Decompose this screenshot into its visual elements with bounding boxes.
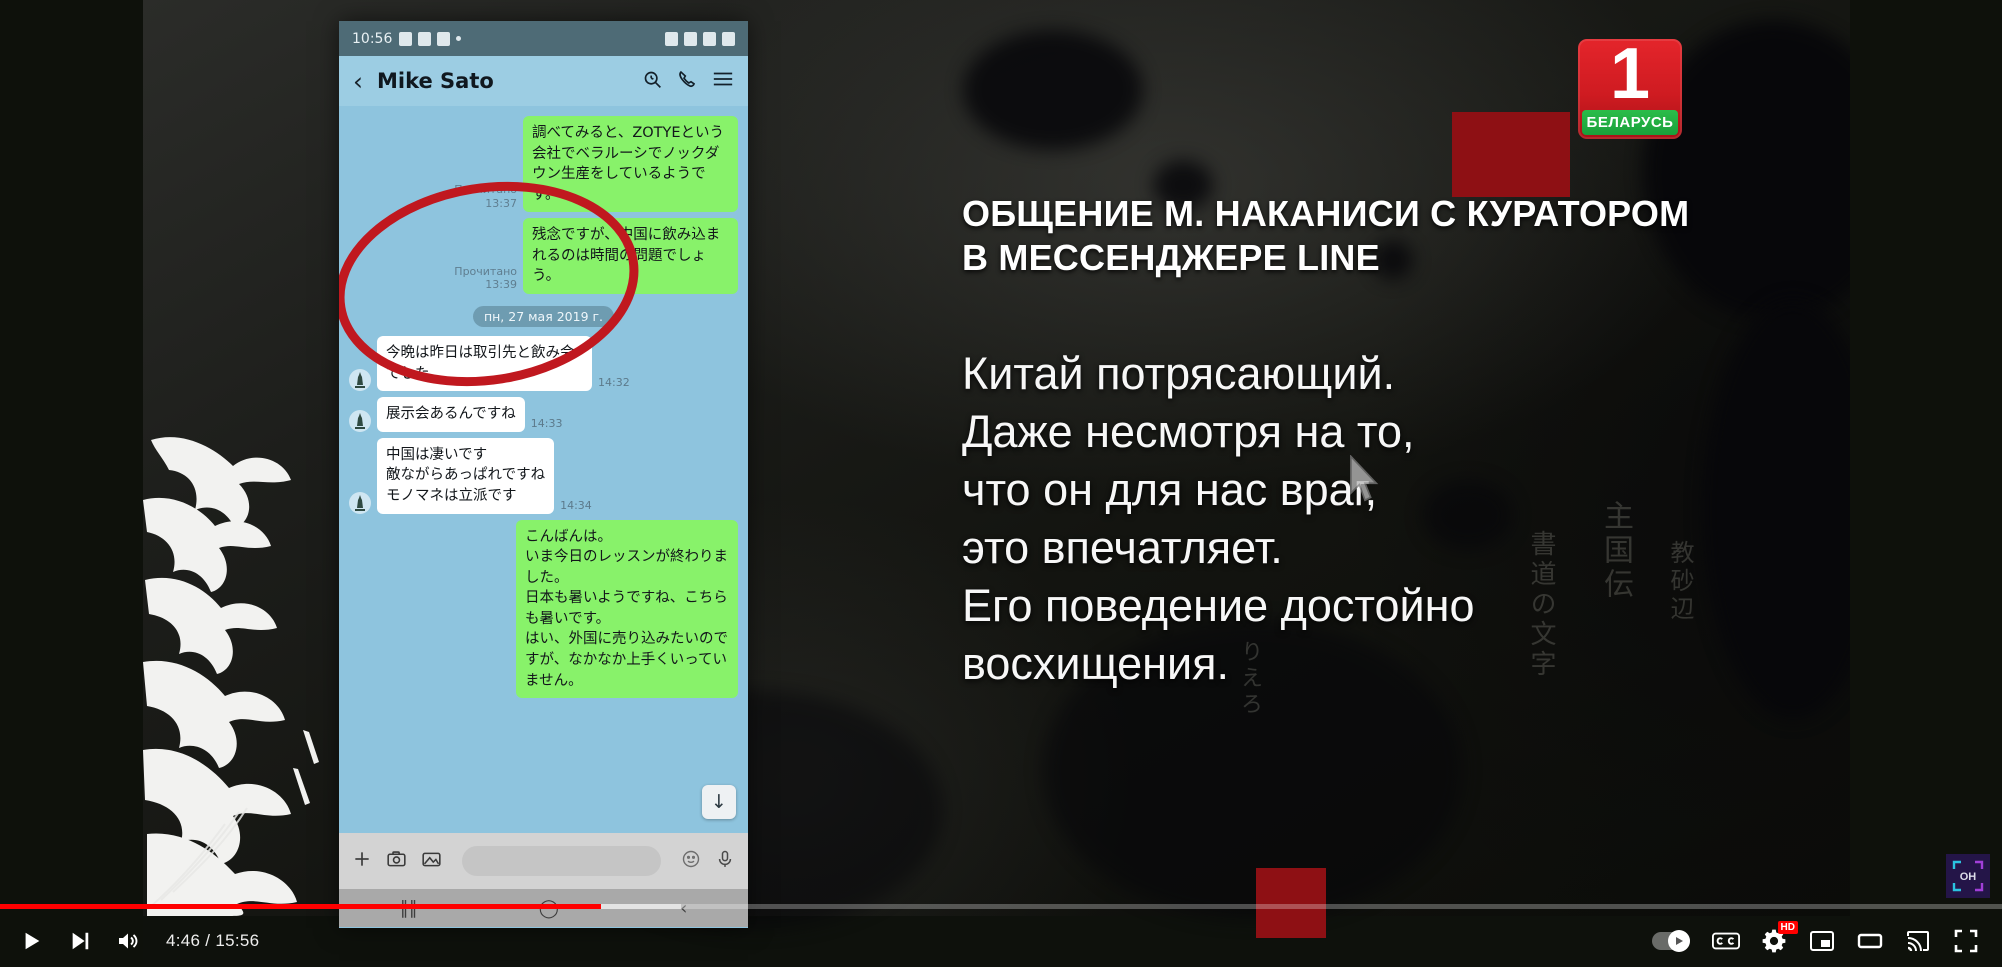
app-notification-icon (418, 32, 431, 46)
volume-button[interactable] (104, 917, 152, 965)
dot-icon (456, 36, 461, 41)
date-divider: пн, 27 мая 2019 г. (339, 306, 748, 327)
phone-screenshot: 10:56 ‹ Mike Sato (339, 21, 748, 928)
quality-hd-badge: HD (1778, 921, 1798, 934)
fullscreen-button[interactable] (1942, 917, 1990, 965)
settings-button[interactable]: HD (1750, 917, 1798, 965)
wifi-icon (684, 32, 697, 46)
controls-row: 4:46 / 15:56 HD (0, 914, 2002, 967)
quote-line: Китай потрясающий. (962, 345, 1722, 403)
next-button[interactable] (56, 917, 104, 965)
autoplay-knob (1668, 930, 1690, 952)
letterbox-right (1850, 0, 2002, 967)
channel-watermark-icon: ОН (1946, 854, 1990, 898)
chat-message-row: 今晩は昨日は取引先と飲み会でした 14:32 (339, 333, 748, 394)
cast-button[interactable] (1894, 917, 1942, 965)
message-status-time: Прочитано 13:37 (454, 183, 517, 211)
headline-line-1: ОБЩЕНИЕ М. НАКАНИСИ С КУРАТОРОМ (962, 192, 1772, 236)
battery-saver-icon (399, 32, 412, 46)
quote-line: Даже несмотря на то, (962, 403, 1722, 461)
message-time: 14:32 (598, 376, 630, 389)
progress-bar-track[interactable] (0, 904, 2002, 909)
phone-icon[interactable] (677, 69, 698, 94)
video-player-stage[interactable]: 書道の文字 主国伝 教砂辺 りえろ 1 (0, 0, 2002, 967)
chat-message-row: Прочитано 13:39 残念ですが、中国に飲み込まれるのは時間の問題でし… (339, 215, 748, 297)
message-time: 14:33 (531, 417, 563, 430)
quote-line: Его поведение достойно (962, 577, 1722, 635)
camera-icon[interactable] (386, 849, 407, 874)
avatar (349, 369, 371, 391)
avatar (349, 410, 371, 432)
autoplay-toggle[interactable] (1640, 917, 1702, 965)
battery-icon (722, 32, 735, 46)
alarm-icon (665, 32, 678, 46)
message-time: 13:39 (454, 278, 517, 292)
plus-icon[interactable] (352, 849, 372, 873)
svg-text:ОН: ОН (1960, 871, 1977, 883)
headline-line-2: В МЕССЕНДЖЕРЕ LINE (962, 236, 1772, 280)
time-display: 4:46 / 15:56 (166, 931, 259, 951)
message-status-time: Прочитано 13:39 (454, 265, 517, 293)
scroll-to-bottom-button[interactable]: ↓ (702, 785, 736, 819)
back-chevron-icon[interactable]: ‹ (353, 69, 363, 94)
message-bubble: 展示会あるんですね (377, 397, 525, 432)
hamburger-menu-icon[interactable] (712, 70, 734, 92)
folder-icon (437, 32, 450, 46)
chat-message-list[interactable]: Прочитано 13:37 調べてみると、ZOTYEという会社でベラルーシで… (339, 106, 748, 833)
avatar (349, 492, 371, 514)
read-status: Прочитано (454, 265, 517, 279)
message-bubble: 今晩は昨日は取引先と飲み会でした (377, 336, 592, 391)
video-player-controls[interactable]: 4:46 / 15:56 HD (0, 890, 2002, 967)
channel-name: БЕЛАРУСЬ (1582, 110, 1678, 135)
subtitles-cc-button[interactable] (1702, 917, 1750, 965)
chat-message-row: Прочитано 13:37 調べてみると、ZOTYEという会社でベラルーシで… (339, 113, 748, 215)
theater-mode-button[interactable] (1846, 917, 1894, 965)
search-icon[interactable] (642, 69, 663, 94)
signal-icon (703, 32, 716, 46)
chat-header: ‹ Mike Sato (339, 56, 748, 106)
progress-bar-played (0, 904, 601, 909)
quote-line: что он для нас враг, (962, 461, 1722, 519)
message-bubble: 調べてみると、ZOTYEという会社でベラルーシでノックダウン生産をしているようで… (523, 116, 738, 212)
channel-number: 1 (1578, 39, 1682, 113)
message-bubble: 中国は凄いです 敵ながらあっぱれですね モノマネは立派です (377, 438, 554, 514)
date-divider-label: пн, 27 мая 2019 г. (473, 306, 614, 327)
message-bubble: こんばんは。 いま今日のレッスンが終わりました。 日本も暑いようですね、こちらも… (516, 520, 738, 699)
letterbox-left (0, 0, 143, 967)
chat-contact-name: Mike Sato (377, 69, 628, 93)
broadcast-quote: Китай потрясающий. Даже несмотря на то, … (962, 345, 1722, 693)
miniplayer-button[interactable] (1798, 917, 1846, 965)
chat-message-row: こんばんは。 いま今日のレッスンが終わりました。 日本も暑いようですね、こちらも… (339, 517, 748, 702)
microphone-icon[interactable] (715, 849, 735, 873)
status-bar-time: 10:56 (352, 31, 392, 47)
chat-message-row-highlighted: 中国は凄いです 敵ながらあっぱれですね モノマネは立派です 14:34 (339, 435, 748, 517)
message-time: 14:34 (560, 499, 592, 512)
read-status: Прочитано (454, 183, 517, 197)
message-time: 13:37 (454, 197, 517, 211)
quote-line: это впечатляет. (962, 519, 1722, 577)
chat-input-bar[interactable] (339, 833, 748, 889)
broadcast-headline: ОБЩЕНИЕ М. НАКАНИСИ С КУРАТОРОМ В МЕССЕН… (962, 192, 1772, 281)
mouse-cursor (1348, 455, 1382, 503)
emoji-icon[interactable] (681, 849, 701, 873)
gallery-icon[interactable] (421, 849, 442, 874)
channel-logo-belarus-1: 1 БЕЛАРУСЬ (1578, 39, 1682, 139)
message-input-field[interactable] (462, 846, 661, 876)
decorative-red-block (1452, 112, 1570, 197)
phone-status-bar: 10:56 (339, 21, 748, 56)
play-button[interactable] (8, 917, 56, 965)
quote-line: восхищения. (962, 635, 1722, 693)
message-bubble: 残念ですが、中国に飲み込まれるのは時間の問題でしょう。 (523, 218, 738, 294)
chat-message-row: 展示会あるんですね 14:33 (339, 394, 748, 435)
